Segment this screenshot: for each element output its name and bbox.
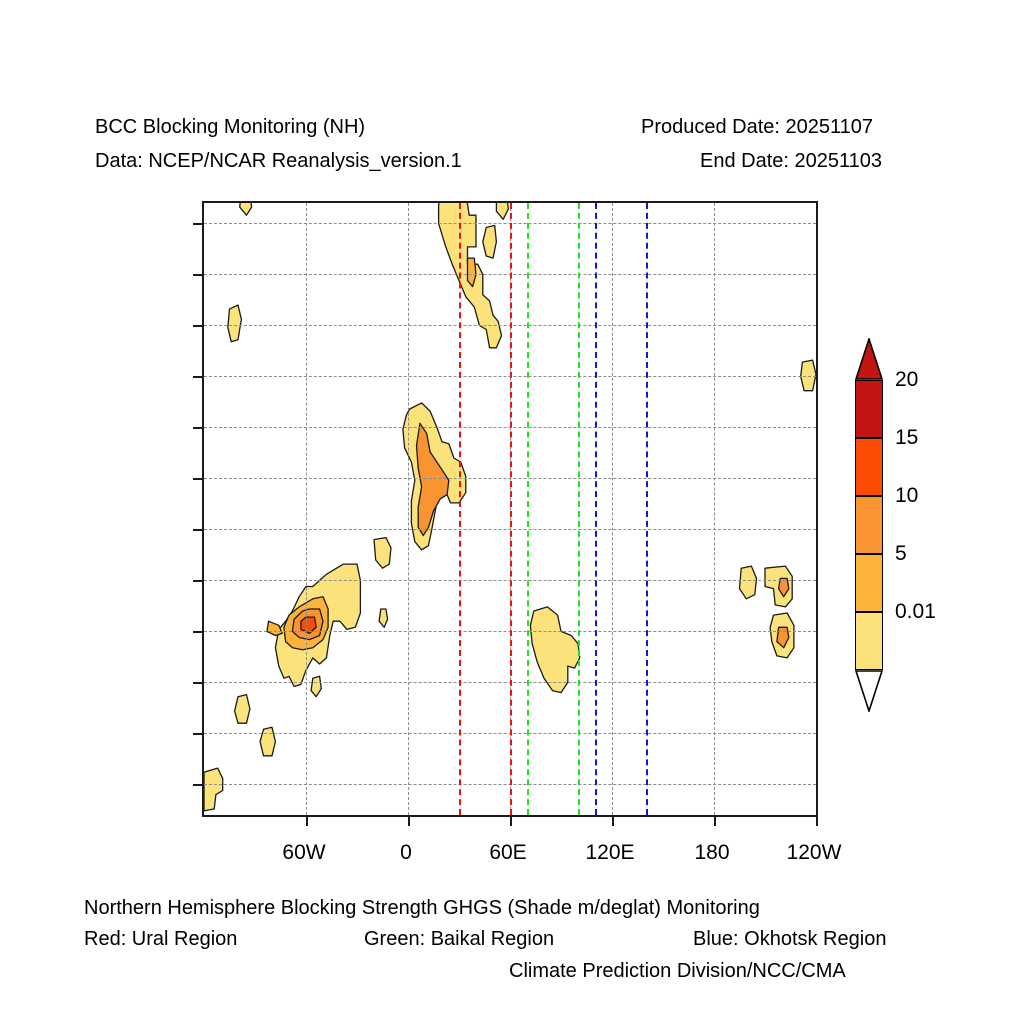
colorbar-segment (855, 380, 883, 438)
region-line-green (527, 203, 529, 815)
chart-title: BCC Blocking Monitoring (NH) (95, 116, 365, 139)
footer-credit: Climate Prediction Division/NCC/CMA (509, 960, 846, 983)
gridline-vertical (714, 203, 715, 815)
y-axis-tick (193, 529, 204, 531)
chart-page: BCC Blocking Monitoring (NH) Data: NCEP/… (0, 0, 1024, 1024)
end-date-label: End Date: 20251103 (700, 150, 882, 173)
colorbar-segment (855, 554, 883, 612)
y-axis-tick (193, 223, 204, 225)
legend-blue-region: Blue: Okhotsk Region (693, 928, 886, 951)
region-line-blue (595, 203, 597, 815)
gridline-vertical (612, 203, 613, 815)
colorbar-tick-label: 20 (895, 368, 918, 392)
colorbar-segment (855, 438, 883, 496)
x-axis-tick-label: 60W (282, 841, 325, 865)
plot-clip (204, 203, 816, 815)
y-axis-tick (193, 631, 204, 633)
x-axis-tick (306, 815, 308, 826)
region-line-green (578, 203, 580, 815)
legend-green-region: Green: Baikal Region (364, 928, 554, 951)
gridline-vertical (408, 203, 409, 815)
colorbar-segment (855, 496, 883, 554)
x-axis-tick-label: 180 (694, 841, 729, 865)
y-axis-tick (193, 427, 204, 429)
colorbar-tick-label: 0.01 (895, 600, 936, 624)
x-axis-tick-label: 120E (585, 841, 634, 865)
x-axis-tick (408, 815, 410, 826)
data-source-label: Data: NCEP/NCAR Reanalysis_version.1 (95, 150, 462, 173)
x-axis-tick-label: 120W (787, 841, 842, 865)
region-line-red (459, 203, 461, 815)
gridline-vertical (306, 203, 307, 815)
region-line-blue (646, 203, 648, 815)
x-axis-tick-label: 60E (489, 841, 526, 865)
colorbar-tick-label: 5 (895, 542, 907, 566)
region-line-red (510, 203, 512, 815)
x-axis-tick (816, 815, 818, 826)
y-axis-tick (193, 733, 204, 735)
produced-date-label: Produced Date: 20251107 (641, 116, 873, 139)
y-axis-tick (193, 682, 204, 684)
plot-area (202, 201, 818, 817)
colorbar-segment (855, 612, 883, 670)
x-axis-tick-label: 0 (400, 841, 412, 865)
footer-description: Northern Hemisphere Blocking Strength GH… (84, 897, 760, 920)
y-axis-tick (193, 478, 204, 480)
colorbar-tick-label: 15 (895, 426, 918, 450)
colorbar-top-arrow (855, 338, 883, 380)
y-axis-tick (193, 325, 204, 327)
x-axis-tick (612, 815, 614, 826)
y-axis-tick (193, 376, 204, 378)
colorbar-tick-label: 10 (895, 484, 918, 508)
colorbar-bottom-arrow (855, 670, 883, 712)
x-axis-tick (510, 815, 512, 826)
legend-red-region: Red: Ural Region (84, 928, 237, 951)
x-axis-tick (714, 815, 716, 826)
y-axis-tick (193, 784, 204, 786)
y-axis-tick (193, 274, 204, 276)
y-axis-tick (193, 580, 204, 582)
